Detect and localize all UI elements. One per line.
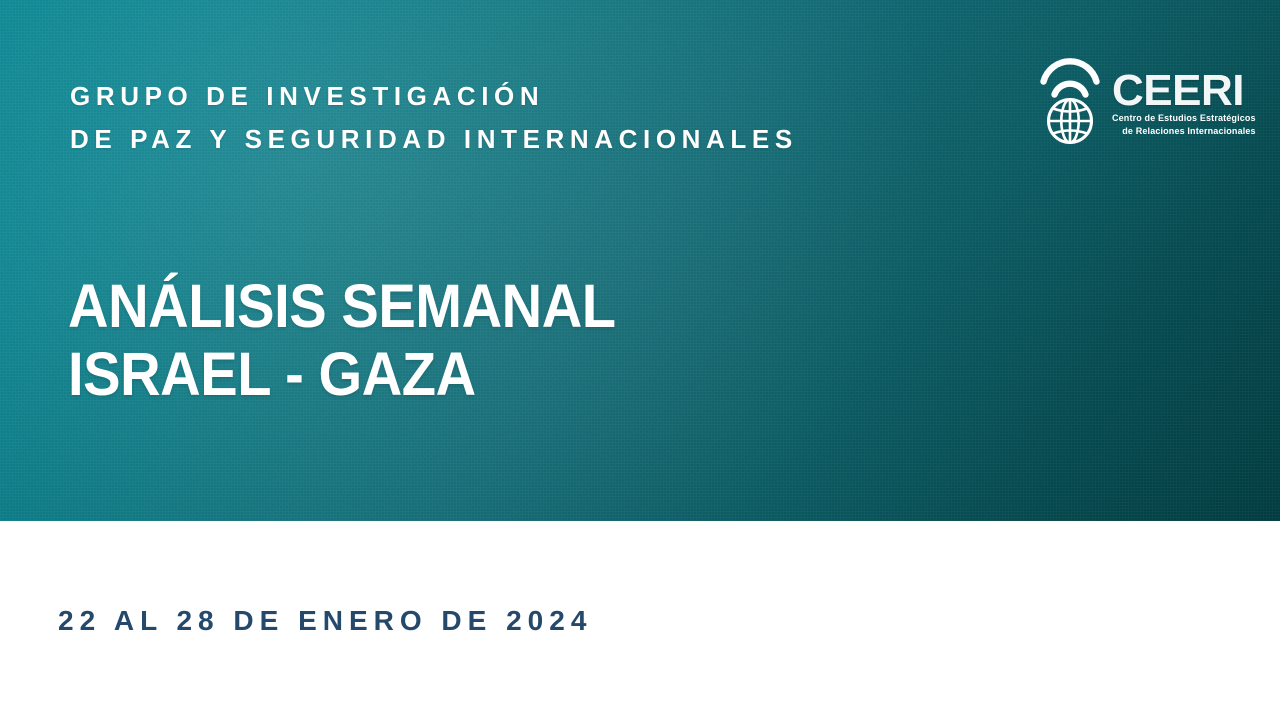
date-strip: 22 AL 28 DE ENERO DE 2024 (0, 521, 1280, 720)
presentation-slide: GRUPO DE INVESTIGACIÓN DE PAZ Y SEGURIDA… (0, 0, 1280, 720)
globe-wifi-icon (1036, 58, 1104, 146)
hero-panel: GRUPO DE INVESTIGACIÓN DE PAZ Y SEGURIDA… (0, 0, 1280, 521)
organization-heading-line-2: DE PAZ Y SEGURIDAD INTERNACIONALES (70, 118, 798, 161)
organization-heading-line-1: GRUPO DE INVESTIGACIÓN (70, 75, 798, 118)
organization-heading: GRUPO DE INVESTIGACIÓN DE PAZ Y SEGURIDA… (70, 75, 798, 161)
slide-title: ANÁLISIS SEMANAL ISRAEL - GAZA (68, 272, 663, 408)
slide-title-line-1: ANÁLISIS SEMANAL (68, 272, 616, 340)
logo-subtitle-line-2: de Relaciones Internacionales (1112, 125, 1256, 138)
logo-subtitle-line-1: Centro de Estudios Estratégicos (1112, 112, 1256, 125)
logo-wordmark: CEERI (1112, 70, 1256, 112)
slide-title-line-2: ISRAEL - GAZA (68, 340, 616, 408)
ceeri-logo: CEERI Centro de Estudios Estratégicos de… (1036, 58, 1256, 146)
date-range-label: 22 AL 28 DE ENERO DE 2024 (58, 605, 592, 637)
logo-text-block: CEERI Centro de Estudios Estratégicos de… (1112, 58, 1256, 137)
